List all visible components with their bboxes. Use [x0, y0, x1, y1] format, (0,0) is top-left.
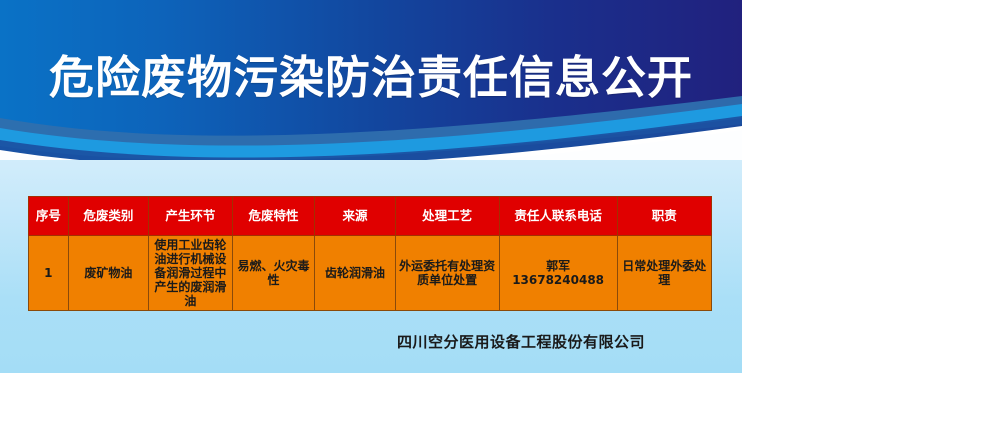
hazardous-waste-table: 序号 危废类别 产生环节 危废特性 来源 处理工艺 责任人联系电话 职责 1 废…: [28, 196, 712, 311]
table-header-row: 序号 危废类别 产生环节 危废特性 来源 处理工艺 责任人联系电话 职责: [29, 197, 712, 236]
column-header-hazard-property: 危废特性: [232, 197, 315, 236]
column-header-generation-stage: 产生环节: [149, 197, 233, 236]
cell-duty: 日常处理外委处理: [617, 236, 711, 311]
company-name: 四川空分医用设备工程股份有限公司: [330, 331, 712, 352]
cell-index: 1: [29, 236, 69, 311]
column-header-index: 序号: [29, 197, 69, 236]
poster-banner: 危险废物污染防治责任信息公开: [0, 0, 742, 160]
column-header-responsible-phone: 责任人联系电话: [499, 197, 617, 236]
cell-source: 齿轮润滑油: [315, 236, 395, 311]
cell-responsible-contact: 郭军 13678240488: [499, 236, 617, 311]
responsible-person-name: 郭军: [502, 259, 615, 273]
column-header-treatment-process: 处理工艺: [395, 197, 499, 236]
cell-treatment-process: 外运委托有处理资质单位处置: [395, 236, 499, 311]
cell-generation-stage: 使用工业齿轮油进行机械设备润滑过程中产生的废润滑油: [149, 236, 233, 311]
table-row: 1 废矿物油 使用工业齿轮油进行机械设备润滑过程中产生的废润滑油 易燃、火灾毒性…: [29, 236, 712, 311]
responsible-person-phone: 13678240488: [502, 273, 615, 287]
poster: 危险废物污染防治责任信息公开 序号 危废类别 产生环节 危废特性 来源 处理工艺…: [0, 0, 742, 373]
cell-hazard-property: 易燃、火灾毒性: [232, 236, 315, 311]
cell-category: 废矿物油: [68, 236, 148, 311]
column-header-source: 来源: [315, 197, 395, 236]
column-header-category: 危废类别: [68, 197, 148, 236]
page-title: 危险废物污染防治责任信息公开: [0, 49, 742, 107]
column-header-duty: 职责: [617, 197, 711, 236]
